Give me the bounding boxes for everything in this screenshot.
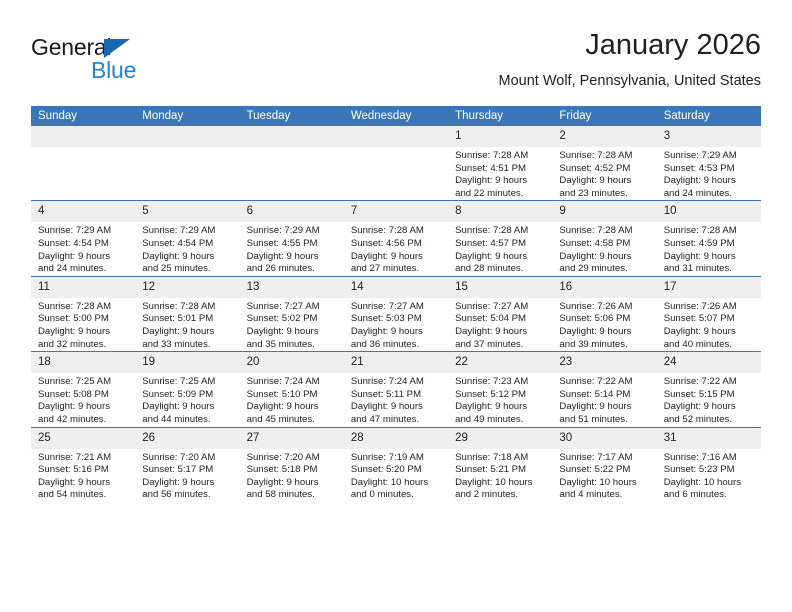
sunrise-time: Sunrise: 7:27 AM: [455, 301, 546, 314]
sunset-time: Sunset: 5:12 PM: [455, 389, 546, 402]
daylight-duration-line1: Daylight: 9 hours: [455, 251, 546, 264]
day-cell[interactable]: 23Sunrise: 7:22 AMSunset: 5:14 PMDayligh…: [552, 352, 656, 427]
daylight-duration-line2: and 47 minutes.: [351, 414, 442, 427]
daylight-duration-line1: Daylight: 9 hours: [664, 175, 755, 188]
day-details: Sunrise: 7:29 AMSunset: 4:54 PMDaylight:…: [135, 222, 239, 275]
day-cell[interactable]: 20Sunrise: 7:24 AMSunset: 5:10 PMDayligh…: [240, 352, 344, 427]
calendar-week-row: 4Sunrise: 7:29 AMSunset: 4:54 PMDaylight…: [31, 201, 761, 276]
sunset-time: Sunset: 4:53 PM: [664, 163, 755, 176]
daylight-duration-line2: and 29 minutes.: [559, 263, 650, 276]
daylight-duration-line2: and 52 minutes.: [664, 414, 755, 427]
sunrise-time: Sunrise: 7:28 AM: [559, 150, 650, 163]
daylight-duration-line2: and 54 minutes.: [38, 489, 129, 502]
sunset-time: Sunset: 5:06 PM: [559, 313, 650, 326]
sunset-time: Sunset: 4:54 PM: [142, 238, 233, 251]
sunset-time: Sunset: 5:15 PM: [664, 389, 755, 402]
day-details: Sunrise: 7:28 AMSunset: 4:58 PMDaylight:…: [552, 222, 656, 275]
day-details: Sunrise: 7:23 AMSunset: 5:12 PMDaylight:…: [448, 373, 552, 426]
sunset-time: Sunset: 4:59 PM: [664, 238, 755, 251]
daylight-duration-line1: Daylight: 9 hours: [559, 326, 650, 339]
sunrise-time: Sunrise: 7:17 AM: [559, 452, 650, 465]
day-cell[interactable]: 19Sunrise: 7:25 AMSunset: 5:09 PMDayligh…: [135, 352, 239, 427]
daylight-duration-line1: Daylight: 9 hours: [142, 326, 233, 339]
day-cell[interactable]: 22Sunrise: 7:23 AMSunset: 5:12 PMDayligh…: [448, 352, 552, 427]
sunset-time: Sunset: 5:16 PM: [38, 464, 129, 477]
day-number: 7: [344, 201, 448, 222]
day-cell[interactable]: 9Sunrise: 7:28 AMSunset: 4:58 PMDaylight…: [552, 201, 656, 276]
sunrise-time: Sunrise: 7:28 AM: [142, 301, 233, 314]
daylight-duration-line1: Daylight: 9 hours: [142, 477, 233, 490]
sunrise-time: Sunrise: 7:18 AM: [455, 452, 546, 465]
daylight-duration-line2: and 51 minutes.: [559, 414, 650, 427]
day-cell-empty: [240, 126, 344, 201]
daylight-duration-line1: Daylight: 10 hours: [455, 477, 546, 490]
day-number: 2: [552, 126, 656, 147]
day-cell[interactable]: 10Sunrise: 7:28 AMSunset: 4:59 PMDayligh…: [657, 201, 761, 276]
day-number: 29: [448, 428, 552, 449]
sunset-time: Sunset: 5:14 PM: [559, 389, 650, 402]
day-details: Sunrise: 7:28 AMSunset: 4:57 PMDaylight:…: [448, 222, 552, 275]
day-cell[interactable]: 21Sunrise: 7:24 AMSunset: 5:11 PMDayligh…: [344, 352, 448, 427]
daylight-duration-line1: Daylight: 10 hours: [559, 477, 650, 490]
day-number: 31: [657, 428, 761, 449]
sunset-time: Sunset: 4:54 PM: [38, 238, 129, 251]
daylight-duration-line2: and 39 minutes.: [559, 339, 650, 352]
day-details: Sunrise: 7:27 AMSunset: 5:04 PMDaylight:…: [448, 298, 552, 351]
daylight-duration-line2: and 36 minutes.: [351, 339, 442, 352]
daylight-duration-line2: and 35 minutes.: [247, 339, 338, 352]
weekday-header-friday: Friday: [552, 106, 656, 126]
daylight-duration-line1: Daylight: 9 hours: [455, 401, 546, 414]
day-details: Sunrise: 7:25 AMSunset: 5:08 PMDaylight:…: [31, 373, 135, 426]
day-number: 9: [552, 201, 656, 222]
day-cell[interactable]: 16Sunrise: 7:26 AMSunset: 5:06 PMDayligh…: [552, 276, 656, 351]
day-number: 1: [448, 126, 552, 147]
day-cell[interactable]: 31Sunrise: 7:16 AMSunset: 5:23 PMDayligh…: [657, 427, 761, 502]
day-details: Sunrise: 7:18 AMSunset: 5:21 PMDaylight:…: [448, 449, 552, 502]
sunrise-time: Sunrise: 7:26 AM: [664, 301, 755, 314]
day-number: 6: [240, 201, 344, 222]
daylight-duration-line2: and 28 minutes.: [455, 263, 546, 276]
daylight-duration-line1: Daylight: 9 hours: [247, 477, 338, 490]
day-details: Sunrise: 7:20 AMSunset: 5:17 PMDaylight:…: [135, 449, 239, 502]
daylight-duration-line2: and 49 minutes.: [455, 414, 546, 427]
daylight-duration-line1: Daylight: 10 hours: [664, 477, 755, 490]
daylight-duration-line2: and 56 minutes.: [142, 489, 233, 502]
day-cell[interactable]: 30Sunrise: 7:17 AMSunset: 5:22 PMDayligh…: [552, 427, 656, 502]
daylight-duration-line2: and 2 minutes.: [455, 489, 546, 502]
day-cell[interactable]: 12Sunrise: 7:28 AMSunset: 5:01 PMDayligh…: [135, 276, 239, 351]
day-number: 24: [657, 352, 761, 373]
day-details: Sunrise: 7:27 AMSunset: 5:02 PMDaylight:…: [240, 298, 344, 351]
sunset-time: Sunset: 5:23 PM: [664, 464, 755, 477]
generalblue-logo[interactable]: General Blue: [31, 34, 261, 90]
day-details: Sunrise: 7:26 AMSunset: 5:07 PMDaylight:…: [657, 298, 761, 351]
sunrise-time: Sunrise: 7:28 AM: [351, 225, 442, 238]
day-number: 19: [135, 352, 239, 373]
sunrise-time: Sunrise: 7:20 AM: [247, 452, 338, 465]
daylight-duration-line1: Daylight: 9 hours: [142, 401, 233, 414]
weekday-header-thursday: Thursday: [448, 106, 552, 126]
day-number: 20: [240, 352, 344, 373]
sunset-time: Sunset: 4:55 PM: [247, 238, 338, 251]
daylight-duration-line1: Daylight: 9 hours: [351, 401, 442, 414]
daylight-duration-line2: and 23 minutes.: [559, 188, 650, 201]
day-details: Sunrise: 7:28 AMSunset: 4:56 PMDaylight:…: [344, 222, 448, 275]
day-cell[interactable]: 28Sunrise: 7:19 AMSunset: 5:20 PMDayligh…: [344, 427, 448, 502]
sunrise-time: Sunrise: 7:22 AM: [664, 376, 755, 389]
day-details: Sunrise: 7:24 AMSunset: 5:10 PMDaylight:…: [240, 373, 344, 426]
day-number: 11: [31, 277, 135, 298]
daylight-duration-line2: and 0 minutes.: [351, 489, 442, 502]
day-cell[interactable]: 8Sunrise: 7:28 AMSunset: 4:57 PMDaylight…: [448, 201, 552, 276]
day-number: [31, 126, 135, 147]
sunset-time: Sunset: 5:09 PM: [142, 389, 233, 402]
day-number: 28: [344, 428, 448, 449]
calendar-grid: Sunday Monday Tuesday Wednesday Thursday…: [31, 106, 761, 502]
sunset-time: Sunset: 5:20 PM: [351, 464, 442, 477]
sunset-time: Sunset: 4:58 PM: [559, 238, 650, 251]
daylight-duration-line1: Daylight: 9 hours: [559, 401, 650, 414]
day-details: Sunrise: 7:16 AMSunset: 5:23 PMDaylight:…: [657, 449, 761, 502]
day-details: Sunrise: 7:26 AMSunset: 5:06 PMDaylight:…: [552, 298, 656, 351]
day-details: Sunrise: 7:21 AMSunset: 5:16 PMDaylight:…: [31, 449, 135, 502]
daylight-duration-line2: and 40 minutes.: [664, 339, 755, 352]
daylight-duration-line1: Daylight: 9 hours: [38, 251, 129, 264]
daylight-duration-line2: and 58 minutes.: [247, 489, 338, 502]
sunrise-time: Sunrise: 7:28 AM: [455, 150, 546, 163]
sunrise-time: Sunrise: 7:27 AM: [247, 301, 338, 314]
day-cell[interactable]: 29Sunrise: 7:18 AMSunset: 5:21 PMDayligh…: [448, 427, 552, 502]
daylight-duration-line1: Daylight: 9 hours: [455, 326, 546, 339]
day-details: Sunrise: 7:29 AMSunset: 4:55 PMDaylight:…: [240, 222, 344, 275]
calendar-page: General Blue January 2026 Mount Wolf, Pe…: [0, 0, 792, 612]
sunset-time: Sunset: 5:17 PM: [142, 464, 233, 477]
sunrise-time: Sunrise: 7:27 AM: [351, 301, 442, 314]
day-number: 12: [135, 277, 239, 298]
sunset-time: Sunset: 5:18 PM: [247, 464, 338, 477]
day-number: 18: [31, 352, 135, 373]
logo-text-blue: Blue: [91, 57, 136, 84]
day-cell[interactable]: 25Sunrise: 7:21 AMSunset: 5:16 PMDayligh…: [31, 427, 135, 502]
day-number: [240, 126, 344, 147]
sunset-time: Sunset: 4:56 PM: [351, 238, 442, 251]
calendar-body: 1Sunrise: 7:28 AMSunset: 4:51 PMDaylight…: [31, 126, 761, 502]
daylight-duration-line2: and 26 minutes.: [247, 263, 338, 276]
daylight-duration-line1: Daylight: 9 hours: [664, 401, 755, 414]
day-number: 21: [344, 352, 448, 373]
day-details: Sunrise: 7:27 AMSunset: 5:03 PMDaylight:…: [344, 298, 448, 351]
day-cell[interactable]: 18Sunrise: 7:25 AMSunset: 5:08 PMDayligh…: [31, 352, 135, 427]
daylight-duration-line2: and 24 minutes.: [38, 263, 129, 276]
daylight-duration-line1: Daylight: 9 hours: [664, 326, 755, 339]
day-details: Sunrise: 7:29 AMSunset: 4:54 PMDaylight:…: [31, 222, 135, 275]
logo-triangle-icon: [104, 39, 130, 58]
day-cell[interactable]: 6Sunrise: 7:29 AMSunset: 4:55 PMDaylight…: [240, 201, 344, 276]
day-cell[interactable]: 4Sunrise: 7:29 AMSunset: 4:54 PMDaylight…: [31, 201, 135, 276]
page-header: General Blue January 2026 Mount Wolf, Pe…: [31, 28, 761, 98]
day-number: [135, 126, 239, 147]
daylight-duration-line2: and 24 minutes.: [664, 188, 755, 201]
sunset-time: Sunset: 4:57 PM: [455, 238, 546, 251]
weekday-header-tuesday: Tuesday: [240, 106, 344, 126]
day-number: 27: [240, 428, 344, 449]
day-details: Sunrise: 7:22 AMSunset: 5:14 PMDaylight:…: [552, 373, 656, 426]
daylight-duration-line2: and 33 minutes.: [142, 339, 233, 352]
day-cell[interactable]: 26Sunrise: 7:20 AMSunset: 5:17 PMDayligh…: [135, 427, 239, 502]
daylight-duration-line2: and 44 minutes.: [142, 414, 233, 427]
daylight-duration-line1: Daylight: 9 hours: [38, 477, 129, 490]
sunrise-time: Sunrise: 7:24 AM: [351, 376, 442, 389]
day-number: 8: [448, 201, 552, 222]
weekday-header-saturday: Saturday: [657, 106, 761, 126]
sunrise-time: Sunrise: 7:26 AM: [559, 301, 650, 314]
day-details: Sunrise: 7:22 AMSunset: 5:15 PMDaylight:…: [657, 373, 761, 426]
day-cell-empty: [31, 126, 135, 201]
daylight-duration-line2: and 27 minutes.: [351, 263, 442, 276]
daylight-duration-line1: Daylight: 9 hours: [664, 251, 755, 264]
sunset-time: Sunset: 5:01 PM: [142, 313, 233, 326]
sunset-time: Sunset: 4:52 PM: [559, 163, 650, 176]
sunset-time: Sunset: 5:00 PM: [38, 313, 129, 326]
day-number: 14: [344, 277, 448, 298]
day-cell[interactable]: 3Sunrise: 7:29 AMSunset: 4:53 PMDaylight…: [657, 126, 761, 201]
weekday-header-wednesday: Wednesday: [344, 106, 448, 126]
weekday-header-monday: Monday: [135, 106, 239, 126]
day-details: Sunrise: 7:19 AMSunset: 5:20 PMDaylight:…: [344, 449, 448, 502]
sunset-time: Sunset: 5:21 PM: [455, 464, 546, 477]
day-number: 5: [135, 201, 239, 222]
day-details: Sunrise: 7:17 AMSunset: 5:22 PMDaylight:…: [552, 449, 656, 502]
day-number: 22: [448, 352, 552, 373]
sunset-time: Sunset: 5:11 PM: [351, 389, 442, 402]
daylight-duration-line2: and 32 minutes.: [38, 339, 129, 352]
day-cell[interactable]: 11Sunrise: 7:28 AMSunset: 5:00 PMDayligh…: [31, 276, 135, 351]
daylight-duration-line1: Daylight: 9 hours: [38, 326, 129, 339]
daylight-duration-line2: and 31 minutes.: [664, 263, 755, 276]
sunset-time: Sunset: 5:22 PM: [559, 464, 650, 477]
sunrise-time: Sunrise: 7:24 AM: [247, 376, 338, 389]
daylight-duration-line1: Daylight: 9 hours: [247, 401, 338, 414]
sunrise-time: Sunrise: 7:29 AM: [664, 150, 755, 163]
day-cell[interactable]: 24Sunrise: 7:22 AMSunset: 5:15 PMDayligh…: [657, 352, 761, 427]
day-cell[interactable]: 5Sunrise: 7:29 AMSunset: 4:54 PMDaylight…: [135, 201, 239, 276]
sunrise-time: Sunrise: 7:25 AM: [142, 376, 233, 389]
daylight-duration-line1: Daylight: 9 hours: [247, 251, 338, 264]
day-number: 4: [31, 201, 135, 222]
sunset-time: Sunset: 5:04 PM: [455, 313, 546, 326]
daylight-duration-line1: Daylight: 10 hours: [351, 477, 442, 490]
daylight-duration-line1: Daylight: 9 hours: [559, 251, 650, 264]
daylight-duration-line2: and 4 minutes.: [559, 489, 650, 502]
sunrise-time: Sunrise: 7:23 AM: [455, 376, 546, 389]
sunrise-time: Sunrise: 7:29 AM: [247, 225, 338, 238]
calendar-week-row: 25Sunrise: 7:21 AMSunset: 5:16 PMDayligh…: [31, 427, 761, 502]
daylight-duration-line1: Daylight: 9 hours: [559, 175, 650, 188]
sunrise-time: Sunrise: 7:29 AM: [38, 225, 129, 238]
day-number: 30: [552, 428, 656, 449]
day-number: 16: [552, 277, 656, 298]
title-block: January 2026 Mount Wolf, Pennsylvania, U…: [499, 28, 761, 91]
day-number: 3: [657, 126, 761, 147]
day-number: 26: [135, 428, 239, 449]
sunrise-time: Sunrise: 7:21 AM: [38, 452, 129, 465]
calendar-week-row: 18Sunrise: 7:25 AMSunset: 5:08 PMDayligh…: [31, 352, 761, 427]
day-details: Sunrise: 7:24 AMSunset: 5:11 PMDaylight:…: [344, 373, 448, 426]
sunset-time: Sunset: 5:08 PM: [38, 389, 129, 402]
day-details: Sunrise: 7:28 AMSunset: 5:00 PMDaylight:…: [31, 298, 135, 351]
daylight-duration-line2: and 22 minutes.: [455, 188, 546, 201]
sunrise-time: Sunrise: 7:25 AM: [38, 376, 129, 389]
day-cell[interactable]: 7Sunrise: 7:28 AMSunset: 4:56 PMDaylight…: [344, 201, 448, 276]
day-details: Sunrise: 7:20 AMSunset: 5:18 PMDaylight:…: [240, 449, 344, 502]
day-details: Sunrise: 7:25 AMSunset: 5:09 PMDaylight:…: [135, 373, 239, 426]
day-cell[interactable]: 17Sunrise: 7:26 AMSunset: 5:07 PMDayligh…: [657, 276, 761, 351]
day-number: 15: [448, 277, 552, 298]
daylight-duration-line2: and 37 minutes.: [455, 339, 546, 352]
day-number: [344, 126, 448, 147]
sunset-time: Sunset: 5:07 PM: [664, 313, 755, 326]
sunrise-time: Sunrise: 7:20 AM: [142, 452, 233, 465]
day-details: Sunrise: 7:28 AMSunset: 4:59 PMDaylight:…: [657, 222, 761, 275]
sunrise-time: Sunrise: 7:29 AM: [142, 225, 233, 238]
sunrise-time: Sunrise: 7:19 AM: [351, 452, 442, 465]
sunrise-time: Sunrise: 7:28 AM: [455, 225, 546, 238]
day-cell[interactable]: 2Sunrise: 7:28 AMSunset: 4:52 PMDaylight…: [552, 126, 656, 201]
day-details: Sunrise: 7:28 AMSunset: 5:01 PMDaylight:…: [135, 298, 239, 351]
calendar-week-row: 11Sunrise: 7:28 AMSunset: 5:00 PMDayligh…: [31, 276, 761, 351]
daylight-duration-line2: and 45 minutes.: [247, 414, 338, 427]
sunset-time: Sunset: 5:10 PM: [247, 389, 338, 402]
calendar-week-row: 1Sunrise: 7:28 AMSunset: 4:51 PMDaylight…: [31, 126, 761, 201]
daylight-duration-line2: and 42 minutes.: [38, 414, 129, 427]
day-number: 10: [657, 201, 761, 222]
page-subtitle: Mount Wolf, Pennsylvania, United States: [499, 71, 761, 91]
daylight-duration-line1: Daylight: 9 hours: [455, 175, 546, 188]
sunset-time: Sunset: 5:03 PM: [351, 313, 442, 326]
day-cell-empty: [135, 126, 239, 201]
day-cell[interactable]: 13Sunrise: 7:27 AMSunset: 5:02 PMDayligh…: [240, 276, 344, 351]
day-cell[interactable]: 15Sunrise: 7:27 AMSunset: 5:04 PMDayligh…: [448, 276, 552, 351]
sunrise-time: Sunrise: 7:16 AM: [664, 452, 755, 465]
day-details: Sunrise: 7:28 AMSunset: 4:51 PMDaylight:…: [448, 147, 552, 200]
weekday-header-sunday: Sunday: [31, 106, 135, 126]
day-details: Sunrise: 7:28 AMSunset: 4:52 PMDaylight:…: [552, 147, 656, 200]
daylight-duration-line1: Daylight: 9 hours: [351, 326, 442, 339]
day-cell[interactable]: 1Sunrise: 7:28 AMSunset: 4:51 PMDaylight…: [448, 126, 552, 201]
daylight-duration-line2: and 6 minutes.: [664, 489, 755, 502]
sunrise-time: Sunrise: 7:28 AM: [664, 225, 755, 238]
daylight-duration-line1: Daylight: 9 hours: [247, 326, 338, 339]
sunset-time: Sunset: 4:51 PM: [455, 163, 546, 176]
daylight-duration-line2: and 25 minutes.: [142, 263, 233, 276]
page-title: January 2026: [499, 28, 761, 62]
day-number: 13: [240, 277, 344, 298]
sunrise-time: Sunrise: 7:28 AM: [38, 301, 129, 314]
day-number: 17: [657, 277, 761, 298]
daylight-duration-line1: Daylight: 9 hours: [351, 251, 442, 264]
day-number: 23: [552, 352, 656, 373]
day-details: Sunrise: 7:29 AMSunset: 4:53 PMDaylight:…: [657, 147, 761, 200]
day-cell[interactable]: 14Sunrise: 7:27 AMSunset: 5:03 PMDayligh…: [344, 276, 448, 351]
sunrise-time: Sunrise: 7:22 AM: [559, 376, 650, 389]
daylight-duration-line1: Daylight: 9 hours: [38, 401, 129, 414]
calendar-header-row: Sunday Monday Tuesday Wednesday Thursday…: [31, 106, 761, 126]
sunrise-time: Sunrise: 7:28 AM: [559, 225, 650, 238]
day-cell[interactable]: 27Sunrise: 7:20 AMSunset: 5:18 PMDayligh…: [240, 427, 344, 502]
day-number: 25: [31, 428, 135, 449]
day-cell-empty: [344, 126, 448, 201]
daylight-duration-line1: Daylight: 9 hours: [142, 251, 233, 264]
sunset-time: Sunset: 5:02 PM: [247, 313, 338, 326]
